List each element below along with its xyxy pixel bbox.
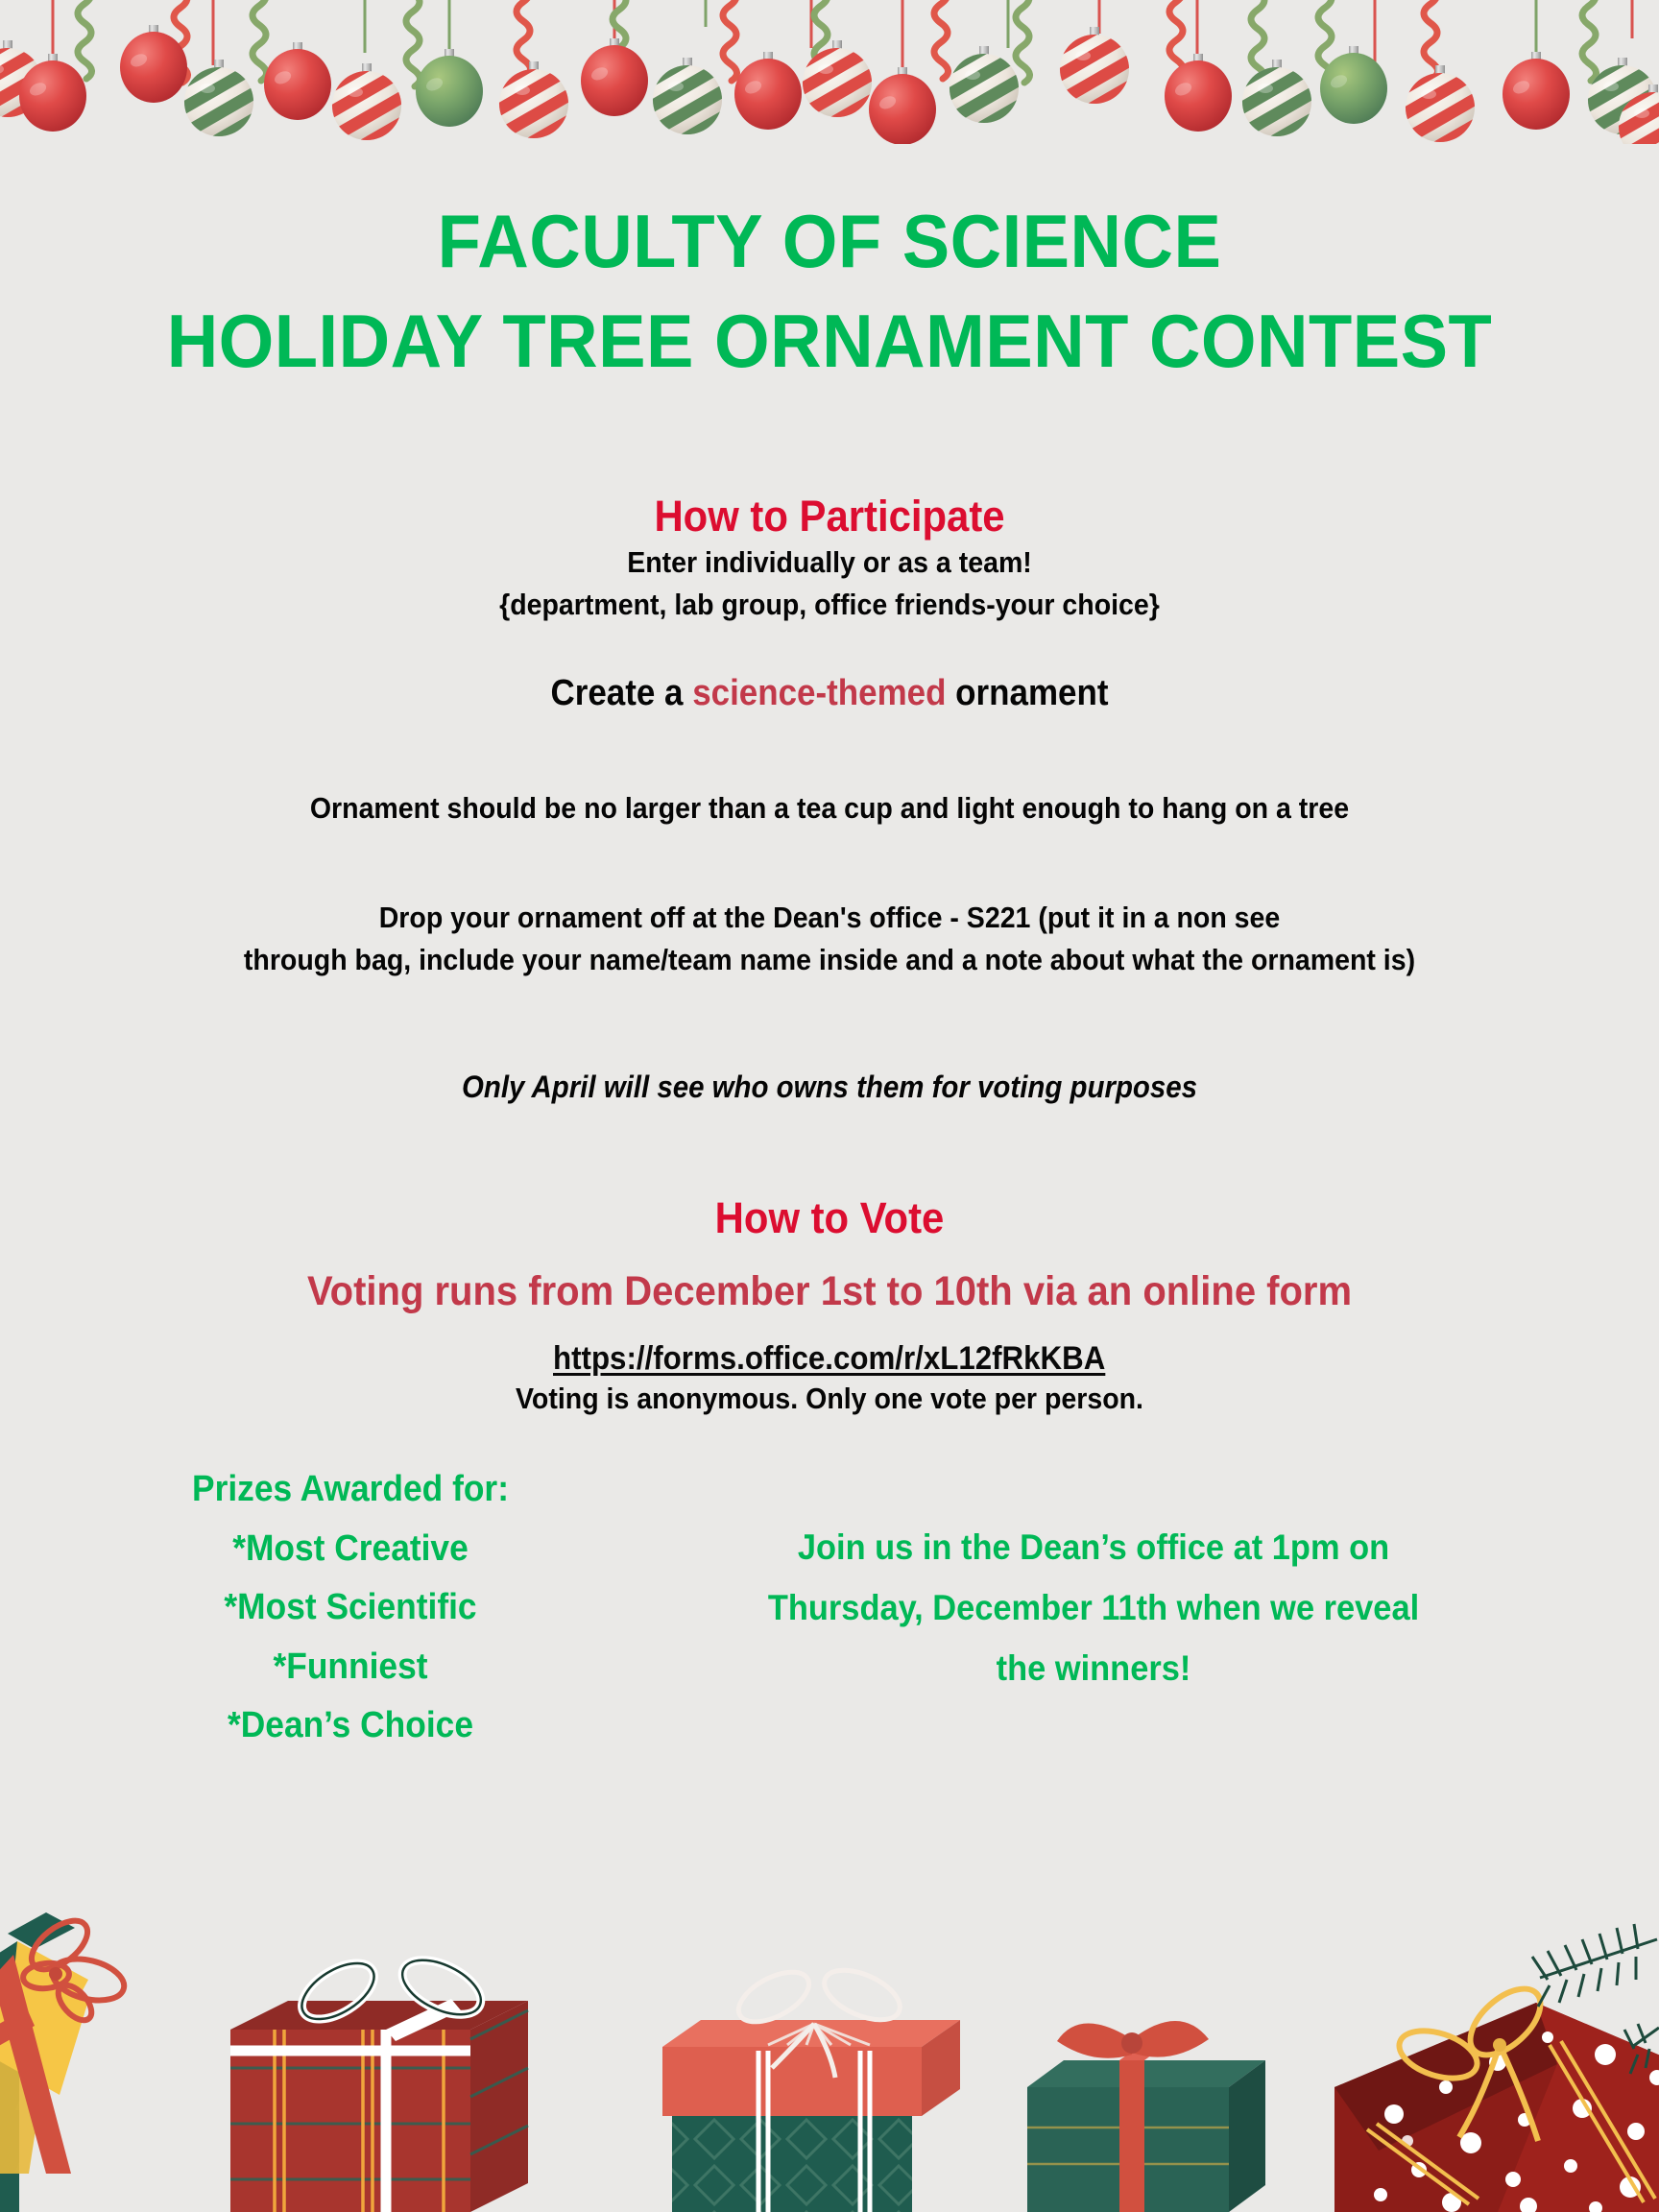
participate-heading: How to Participate [58, 492, 1600, 541]
gift-boxes-border [0, 1886, 1659, 2212]
dropoff-line1: Drop your ornament off at the Dean's off… [66, 897, 1593, 939]
prize-item-most-scientific: *Most Scientific [51, 1578, 649, 1638]
voting-form-link[interactable]: https://forms.office.com/r/xL12fRkKBA [553, 1340, 1105, 1378]
participate-line2: {department, lab group, office friends-y… [66, 584, 1593, 626]
participate-line1: Enter individually or as a team! [66, 541, 1593, 584]
prizes-column: Prizes Awarded for: *Most Creative *Most… [0, 1460, 672, 1756]
reveal-line1: Join us in the Dean’s office at 1pm on [702, 1518, 1486, 1578]
ornament-size-note: Ornament should be no larger than a tea … [66, 787, 1593, 829]
gift-green-red [1027, 2021, 1265, 2212]
gift-red-plaid [230, 1949, 528, 2212]
reveal-line2: Thursday, December 11th when we reveal [702, 1578, 1486, 1639]
reveal-line3: the winners! [702, 1639, 1486, 1699]
page-title-line1: FACULTY OF SCIENCE [41, 194, 1618, 290]
vote-heading: How to Vote [58, 1193, 1600, 1243]
privacy-note: Only April will see who owns them for vo… [66, 1066, 1593, 1109]
create-suffix: ornament [946, 673, 1108, 713]
prize-item-deans-choice: *Dean’s Choice [51, 1696, 649, 1756]
dropoff-line2: through bag, include your name/team name… [66, 939, 1593, 981]
gift-darkred-dots [1334, 1924, 1659, 2212]
reveal-column: Join us in the Dean’s office at 1pm on T… [672, 1460, 1659, 1756]
create-prefix: Create a [551, 673, 693, 713]
poster-content: FACULTY OF SCIENCE HOLIDAY TREE ORNAMENT… [0, 144, 1659, 1756]
science-themed-accent: science-themed [692, 673, 946, 713]
create-ornament-line: Create a science-themed ornament [66, 668, 1593, 720]
page-title-line2: HOLIDAY TREE ORNAMENT CONTEST [41, 294, 1618, 390]
anonymous-note: Voting is anonymous. Only one vote per p… [66, 1378, 1593, 1420]
gift-green-yellow [0, 1911, 129, 2212]
voting-period: Voting runs from December 1st to 10th vi… [58, 1268, 1600, 1315]
hanging-ornaments-border [0, 0, 1659, 144]
gift-coral-white [662, 1960, 960, 2212]
holiday-poster: FACULTY OF SCIENCE HOLIDAY TREE ORNAMENT… [0, 0, 1659, 2212]
prize-item-funniest: *Funniest [51, 1638, 649, 1697]
bottom-columns: Prizes Awarded for: *Most Creative *Most… [0, 1460, 1659, 1756]
prize-item-most-creative: *Most Creative [51, 1520, 649, 1579]
prizes-heading: Prizes Awarded for: [51, 1460, 649, 1520]
